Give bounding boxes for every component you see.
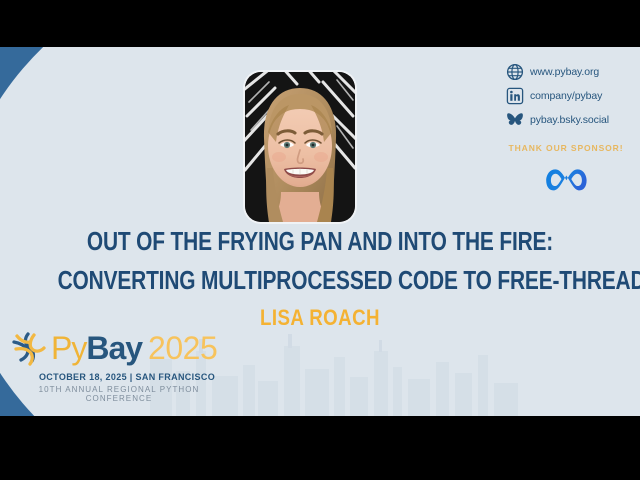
social-link-linkedin-label: company/pybay xyxy=(530,90,602,102)
pybay-wordmark: Py Bay 2025 xyxy=(51,330,217,367)
event-tagline: 10TH ANNUAL REGIONAL PYTHON CONFERENCE xyxy=(8,385,224,403)
letterbox-top xyxy=(0,0,640,47)
linkedin-icon xyxy=(505,86,524,105)
social-link-website[interactable]: www.pybay.org xyxy=(505,60,637,83)
talk-title-line-2: CONVERTING MULTIPROCESSED CODE TO FREE-T… xyxy=(58,262,583,301)
bluesky-butterfly-icon xyxy=(505,110,524,129)
conference-slide: OUT OF THE FRYING PAN AND INTO THE FIRE:… xyxy=(0,0,640,480)
globe-icon xyxy=(505,62,524,81)
social-links: www.pybay.org company/pybay xyxy=(505,60,637,132)
talk-title-line-1: OUT OF THE FRYING PAN AND INTO THE FIRE: xyxy=(58,223,583,262)
avatar xyxy=(245,72,355,222)
wordmark-py: Py xyxy=(51,330,86,367)
letterbox-bottom xyxy=(0,416,640,480)
event-date-location: OCTOBER 18, 2025 | SAN FRANCISCO xyxy=(8,372,224,382)
slide-canvas: OUT OF THE FRYING PAN AND INTO THE FIRE:… xyxy=(0,47,640,416)
social-link-website-label: www.pybay.org xyxy=(530,66,599,78)
pybay-star-mark xyxy=(8,327,50,369)
pybay-logo-lockup: Py Bay 2025 OCTOBER 18, 2025 | SAN FRANC… xyxy=(8,325,224,403)
wordmark-bay: Bay xyxy=(86,330,142,367)
wordmark-year: 2025 xyxy=(148,330,217,367)
sponsor-block: THANK OUR SPONSOR! xyxy=(492,143,640,195)
talk-title: OUT OF THE FRYING PAN AND INTO THE FIRE:… xyxy=(0,223,640,301)
social-link-bluesky[interactable]: pybay.bsky.social xyxy=(505,108,637,131)
social-link-linkedin[interactable]: company/pybay xyxy=(505,84,637,107)
social-link-bluesky-label: pybay.bsky.social xyxy=(530,114,609,126)
sponsor-caption: THANK OUR SPONSOR! xyxy=(492,143,640,153)
meta-infinity-logo xyxy=(492,165,640,195)
